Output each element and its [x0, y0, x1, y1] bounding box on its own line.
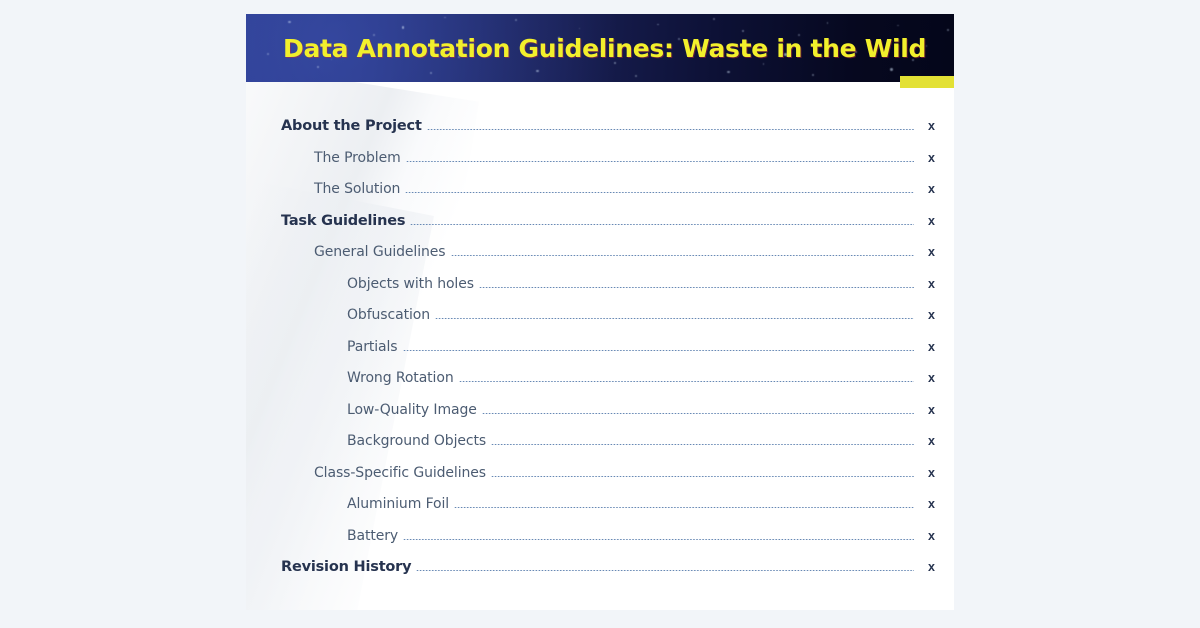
- toc-entry-label[interactable]: Task Guidelines: [281, 213, 410, 229]
- toc-entry[interactable]: The Problemx: [246, 150, 954, 182]
- toc-leader-dots: [403, 539, 914, 540]
- toc-entry-label[interactable]: Objects with holes: [347, 276, 479, 292]
- toc-entry-label[interactable]: Wrong Rotation: [347, 370, 459, 386]
- toc-entry[interactable]: Objects with holesx: [246, 276, 954, 308]
- toc-entry-page-number: x: [914, 560, 954, 574]
- document-title: Data Annotation Guidelines: Waste in the…: [283, 34, 926, 63]
- toc-leader-dots: [435, 318, 914, 319]
- toc-entry-page-number: x: [914, 151, 954, 165]
- toc-entry-label[interactable]: About the Project: [281, 118, 427, 134]
- yellow-accent-bar: [900, 76, 954, 88]
- toc-entry-label[interactable]: Battery: [347, 528, 403, 544]
- toc-entry-label[interactable]: Revision History: [281, 559, 416, 575]
- toc-entry-page-number: x: [914, 434, 954, 448]
- toc-entry-label[interactable]: Background Objects: [347, 433, 491, 449]
- toc-entry-page-number: x: [914, 497, 954, 511]
- toc-leader-dots: [403, 350, 915, 351]
- toc-leader-dots: [427, 129, 914, 130]
- toc-entry[interactable]: Task Guidelinesx: [246, 213, 954, 245]
- toc-entry[interactable]: Class-Specific Guidelinesx: [246, 465, 954, 497]
- toc-entry-label[interactable]: The Solution: [314, 181, 405, 197]
- toc-entry-page-number: x: [914, 403, 954, 417]
- toc-entry[interactable]: General Guidelinesx: [246, 244, 954, 276]
- toc-leader-dots: [491, 476, 914, 477]
- toc-leader-dots: [482, 413, 914, 414]
- toc-entry-page-number: x: [914, 277, 954, 291]
- toc-entry[interactable]: Aluminium Foilx: [246, 496, 954, 528]
- toc-entry-label[interactable]: General Guidelines: [314, 244, 451, 260]
- table-of-contents: About the ProjectxThe ProblemxThe Soluti…: [246, 118, 954, 591]
- toc-leader-dots: [454, 507, 914, 508]
- toc-leader-dots: [406, 161, 914, 162]
- toc-entry-page-number: x: [914, 529, 954, 543]
- toc-entry-label[interactable]: Low-Quality Image: [347, 402, 482, 418]
- toc-entry[interactable]: Partialsx: [246, 339, 954, 371]
- toc-entry-page-number: x: [914, 308, 954, 322]
- toc-entry[interactable]: Low-Quality Imagex: [246, 402, 954, 434]
- document-header-banner: Data Annotation Guidelines: Waste in the…: [246, 14, 954, 82]
- toc-entry-page-number: x: [914, 371, 954, 385]
- document-page: Data Annotation Guidelines: Waste in the…: [246, 14, 954, 610]
- toc-entry[interactable]: Wrong Rotationx: [246, 370, 954, 402]
- toc-entry-page-number: x: [914, 245, 954, 259]
- toc-entry-page-number: x: [914, 119, 954, 133]
- toc-entry[interactable]: Revision Historyx: [246, 559, 954, 591]
- toc-entry-label[interactable]: Partials: [347, 339, 403, 355]
- toc-entry[interactable]: Background Objectsx: [246, 433, 954, 465]
- toc-leader-dots: [416, 570, 914, 571]
- toc-entry-label[interactable]: Obfuscation: [347, 307, 435, 323]
- toc-entry-page-number: x: [914, 182, 954, 196]
- toc-entry-page-number: x: [914, 466, 954, 480]
- toc-entry[interactable]: The Solutionx: [246, 181, 954, 213]
- toc-entry-label[interactable]: The Problem: [314, 150, 406, 166]
- toc-entry-label[interactable]: Class-Specific Guidelines: [314, 465, 491, 481]
- toc-leader-dots: [479, 287, 914, 288]
- toc-entry-label[interactable]: Aluminium Foil: [347, 496, 454, 512]
- toc-entry[interactable]: About the Projectx: [246, 118, 954, 150]
- toc-leader-dots: [410, 224, 914, 225]
- toc-entry-page-number: x: [914, 214, 954, 228]
- toc-entry-page-number: x: [914, 340, 954, 354]
- toc-entry[interactable]: Obfuscationx: [246, 307, 954, 339]
- toc-leader-dots: [491, 444, 914, 445]
- toc-entry[interactable]: Batteryx: [246, 528, 954, 560]
- toc-leader-dots: [405, 192, 914, 193]
- toc-leader-dots: [451, 255, 915, 256]
- toc-leader-dots: [459, 381, 914, 382]
